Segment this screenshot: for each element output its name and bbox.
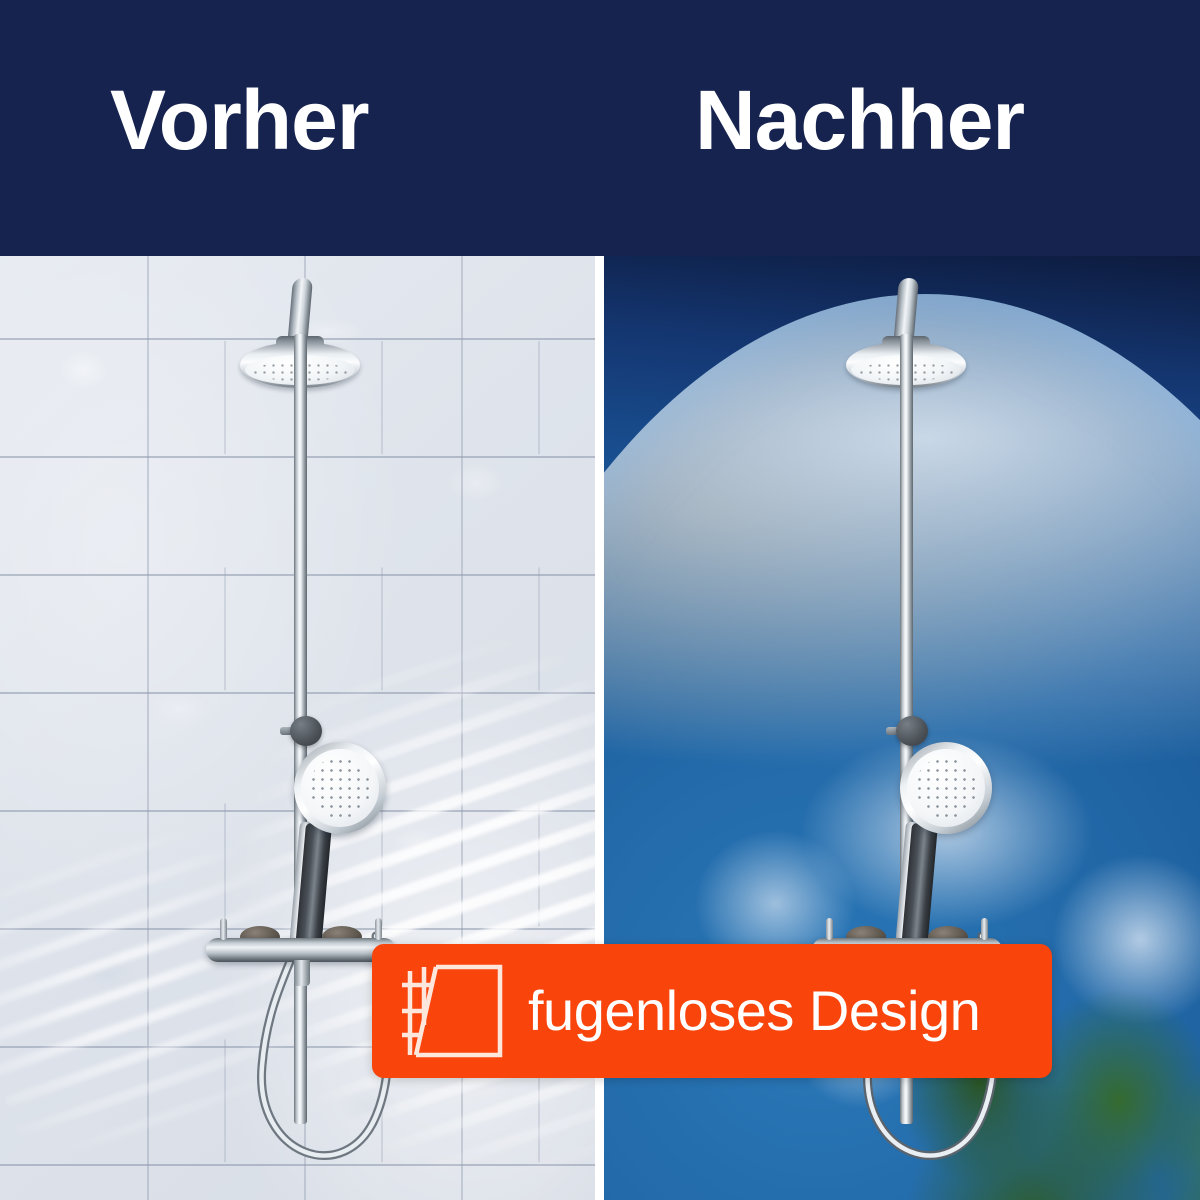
comparison-graphic: Vorher Nachher (0, 0, 1200, 1200)
valve-lever-right (375, 918, 382, 940)
after-heading: Nachher (695, 78, 1024, 162)
badge-label: fugenloses Design (528, 983, 980, 1039)
hand-shower-nozzles (915, 757, 977, 819)
hand-shower-icon (900, 742, 992, 834)
valve-lever-right (981, 918, 988, 940)
hand-shower-icon (294, 742, 386, 834)
tile-grid-to-smooth-surface-icon (400, 963, 504, 1059)
before-heading: Vorher (110, 78, 369, 162)
hand-shower-nozzles (309, 757, 371, 819)
valve-body (206, 938, 396, 962)
valve-lever-left (826, 918, 833, 940)
header-band: Vorher Nachher (0, 0, 1200, 256)
valve-lever-left (220, 918, 227, 940)
thermostat-valve (206, 932, 396, 962)
valve-outlet (294, 960, 310, 986)
feature-badge: fugenloses Design (372, 944, 1052, 1078)
